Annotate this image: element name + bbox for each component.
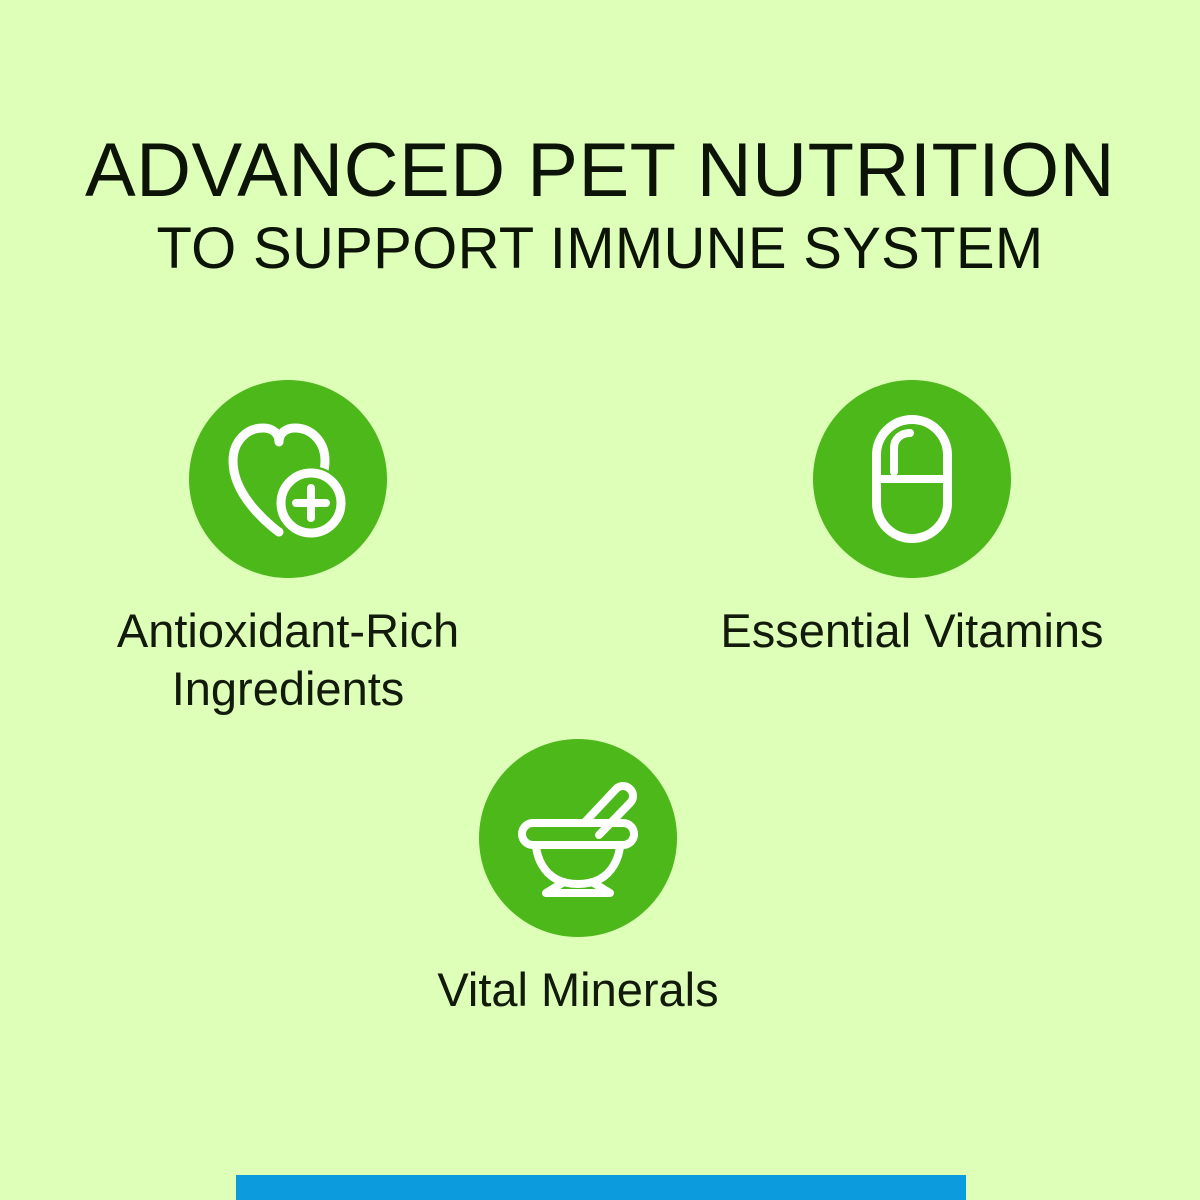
- page-subtitle: TO SUPPORT IMMUNE SYSTEM: [0, 218, 1200, 280]
- heart-plus-icon: [227, 420, 349, 538]
- headline-block: ADVANCED PET NUTRITION TO SUPPORT IMMUNE…: [0, 0, 1200, 280]
- feature-label: Vital Minerals: [312, 961, 844, 1019]
- feature-icon-badge: [189, 380, 387, 578]
- feature-essential-vitamins: Essential Vitamins: [624, 380, 1200, 660]
- infographic-canvas: ADVANCED PET NUTRITION TO SUPPORT IMMUNE…: [0, 0, 1200, 1200]
- feature-vital-minerals: Vital Minerals: [312, 739, 844, 1019]
- feature-icon-badge: [479, 739, 677, 937]
- feature-label: Essential Vitamins: [624, 602, 1200, 660]
- page-title: ADVANCED PET NUTRITION: [0, 130, 1200, 212]
- feature-label: Antioxidant-Rich Ingredients: [0, 602, 576, 718]
- bottom-accent-bar: [236, 1175, 966, 1200]
- feature-icon-badge: [813, 380, 1011, 578]
- capsule-pill-icon: [871, 414, 953, 544]
- feature-antioxidant-rich-ingredients: Antioxidant-Rich Ingredients: [0, 380, 576, 718]
- mortar-and-pestle-icon: [512, 779, 644, 897]
